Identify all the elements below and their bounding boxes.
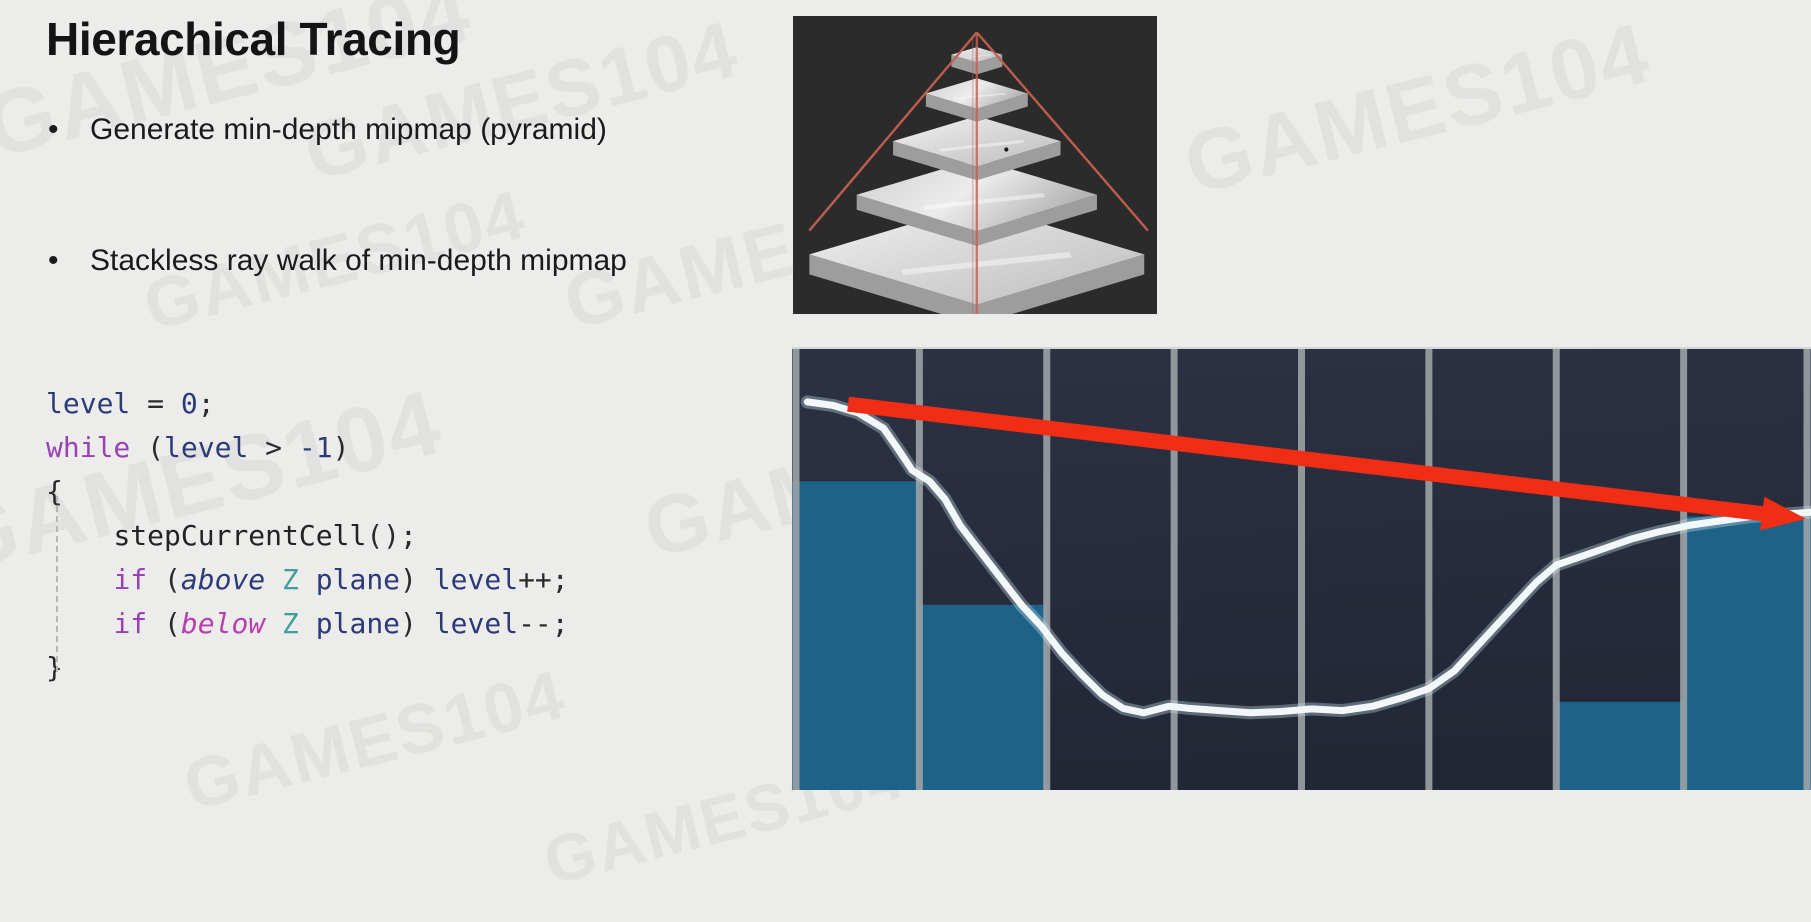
code-token: if [113,607,147,640]
code-token: ( [147,607,181,640]
code-token: } [46,651,63,684]
code-token: level [434,607,518,640]
code-token: level [434,563,518,596]
code-token: ++; [518,563,569,596]
code-token: level [46,387,130,420]
code-token: ) [400,563,434,596]
terrain-cell [792,481,919,790]
terrain-cell [1684,517,1811,790]
code-token: = [147,387,164,420]
code-token [164,387,181,420]
slide-canvas: GAMES104 GAMES104 GAMES104 GAMES104 GAME… [0,0,1811,922]
pyramid-speck [1004,147,1008,151]
pyramid-figure [793,16,1157,314]
code-token: above [181,563,265,596]
terrain-cell [1556,702,1683,790]
terrain-figure [792,347,1811,790]
code-token: level [164,431,248,464]
code-token: ( [130,431,164,464]
bullet-text: Generate min-depth mipmap (pyramid) [90,112,607,148]
code-token [248,431,265,464]
code-line: if (above Z plane) level++; [46,558,569,602]
code-line: } [46,646,569,690]
code-token: stepCurrentCell [113,519,366,552]
code-token: ) [400,607,434,640]
code-token: if [113,563,147,596]
list-item: • Stackless ray walk of min-depth mipmap [44,243,744,279]
slide-title: Hierachical Tracing [46,12,460,66]
code-line: if (below Z plane) level--; [46,602,569,646]
code-token: (); [366,519,417,552]
code-line: stepCurrentCell(); [46,514,569,558]
terrain-diagram [792,349,1811,790]
code-token: Z [282,563,299,596]
code-token [265,563,282,596]
code-token [282,431,299,464]
bullet-text: Stackless ray walk of min-depth mipmap [90,243,627,279]
code-token: --; [518,607,569,640]
code-token: { [46,475,63,508]
code-line: level = 0; [46,382,569,426]
code-token: below [181,607,265,640]
code-token [299,563,316,596]
code-token: while [46,431,130,464]
code-token: ; [198,387,215,420]
code-token [265,607,282,640]
code-line: { [46,470,569,514]
code-block: level = 0;while (level > -1){ stepCurren… [46,382,569,690]
code-token: > [265,431,282,464]
code-token [130,387,147,420]
code-indent-guide [56,496,58,672]
terrain-cell [919,605,1046,790]
code-token [299,607,316,640]
code-token: ( [147,563,181,596]
code-token: plane [316,563,400,596]
code-token: ) [333,431,350,464]
code-token: 0 [181,387,198,420]
watermark-text: GAMES104 [1175,4,1660,215]
bullet-marker-icon: • [44,112,90,148]
pyramid-diagram [793,16,1157,314]
code-token: plane [316,607,400,640]
list-item: • Generate min-depth mipmap (pyramid) [44,112,744,148]
code-token: -1 [299,431,333,464]
bullet-marker-icon: • [44,243,90,279]
bullet-list: • Generate min-depth mipmap (pyramid) • … [44,112,744,374]
code-line: while (level > -1) [46,426,569,470]
code-token: Z [282,607,299,640]
